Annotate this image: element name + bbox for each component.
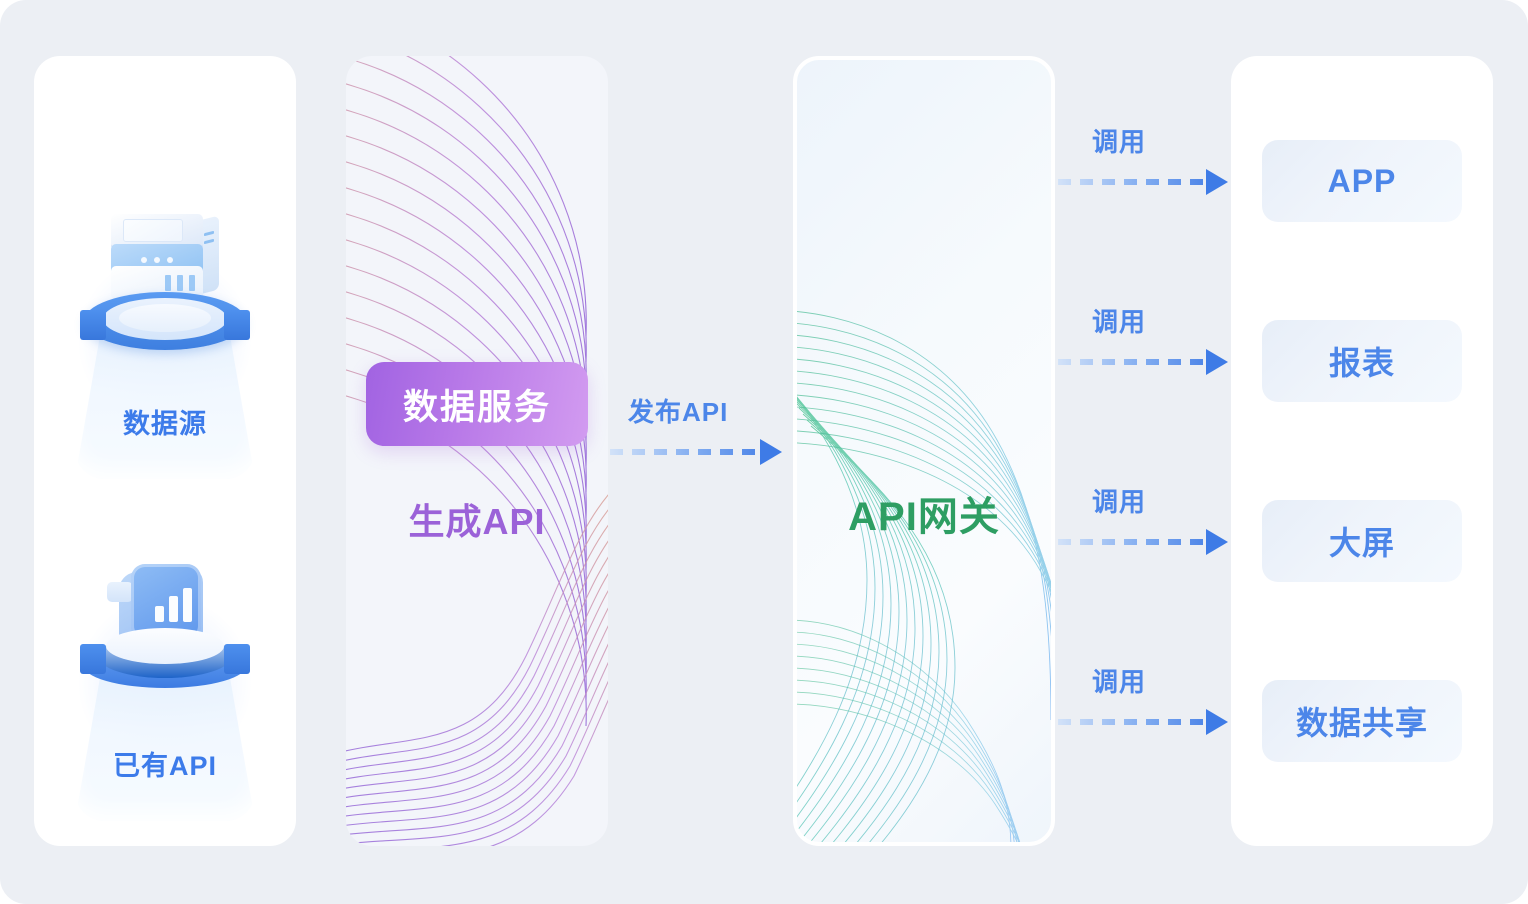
- call-arrow-0: [1058, 170, 1228, 194]
- arrow-dashed-line: [1058, 179, 1204, 185]
- api-gateway-label: API网关: [797, 484, 1051, 542]
- pedestal-datasource: 数据源: [60, 206, 270, 506]
- consumer-chip-label: 大屏: [1329, 518, 1395, 564]
- arrow-dashed-line: [1058, 719, 1204, 725]
- source-label-existing-api: 已有API: [60, 744, 270, 783]
- arrow-head-icon: [1206, 169, 1228, 195]
- consumer-chip-report[interactable]: 报表: [1262, 320, 1462, 402]
- pedestal-existing-api: 已有API: [60, 548, 270, 846]
- data-service-badge[interactable]: 数据服务: [366, 362, 588, 446]
- source-item-datasource[interactable]: 数据源: [34, 206, 296, 506]
- arrow-head-icon: [1206, 529, 1228, 555]
- arrow-dashed-line: [610, 449, 758, 455]
- publish-arrow: [610, 440, 782, 464]
- source-item-existing-api[interactable]: 已有API: [34, 548, 296, 846]
- pedestal-plate-top: [106, 628, 224, 664]
- pedestal-notch-left: [80, 310, 106, 340]
- consumer-chip-label: APP: [1328, 163, 1397, 200]
- arrow-head-icon: [1206, 349, 1228, 375]
- pedestal-ring-core: [119, 304, 211, 332]
- source-label-datasource: 数据源: [60, 402, 270, 441]
- purple-arc-lines-decoration: [346, 56, 608, 846]
- consumer-chip-data-sharing[interactable]: 数据共享: [1262, 680, 1462, 762]
- chart-bars-icon: [155, 588, 192, 622]
- arrow-dashed-line: [1058, 359, 1204, 365]
- consumers-card: APP 报表 大屏 数据共享: [1231, 56, 1493, 846]
- chart-card-tab: [107, 582, 133, 602]
- consumer-chip-label: 报表: [1329, 338, 1395, 384]
- pedestal-notch-left: [80, 644, 106, 674]
- diagram-canvas: 数据源: [0, 0, 1528, 904]
- generate-api-label: 生成API: [346, 493, 608, 545]
- server-slab-top: [111, 214, 203, 248]
- arrow-head-icon: [1206, 709, 1228, 735]
- data-service-badge-label: 数据服务: [403, 379, 551, 430]
- call-arrow-label-2: 调用: [1092, 482, 1146, 519]
- pedestal-notch-right: [224, 310, 250, 340]
- server-vent-bars: [165, 275, 195, 291]
- call-arrow-label-3: 调用: [1092, 662, 1146, 699]
- consumer-chip-app[interactable]: APP: [1262, 140, 1462, 222]
- data-service-card: 数据服务 生成API: [346, 56, 608, 846]
- call-arrow-3: [1058, 710, 1228, 734]
- arrow-dashed-line: [1058, 539, 1204, 545]
- consumer-chip-bigscreen[interactable]: 大屏: [1262, 500, 1462, 582]
- consumer-chip-label: 数据共享: [1296, 698, 1428, 744]
- green-blue-flow-lines-decoration: [797, 60, 1051, 842]
- pedestal-notch-right: [224, 644, 250, 674]
- call-arrow-1: [1058, 350, 1228, 374]
- call-arrow-2: [1058, 530, 1228, 554]
- server-led-dots: [141, 257, 173, 263]
- data-sources-card: 数据源: [34, 56, 296, 846]
- api-gateway-card: API网关: [793, 56, 1055, 846]
- publish-arrow-label: 发布API: [628, 392, 728, 429]
- call-arrow-label-1: 调用: [1092, 302, 1146, 339]
- call-arrow-label-0: 调用: [1092, 122, 1146, 159]
- arrow-head-icon: [760, 439, 782, 465]
